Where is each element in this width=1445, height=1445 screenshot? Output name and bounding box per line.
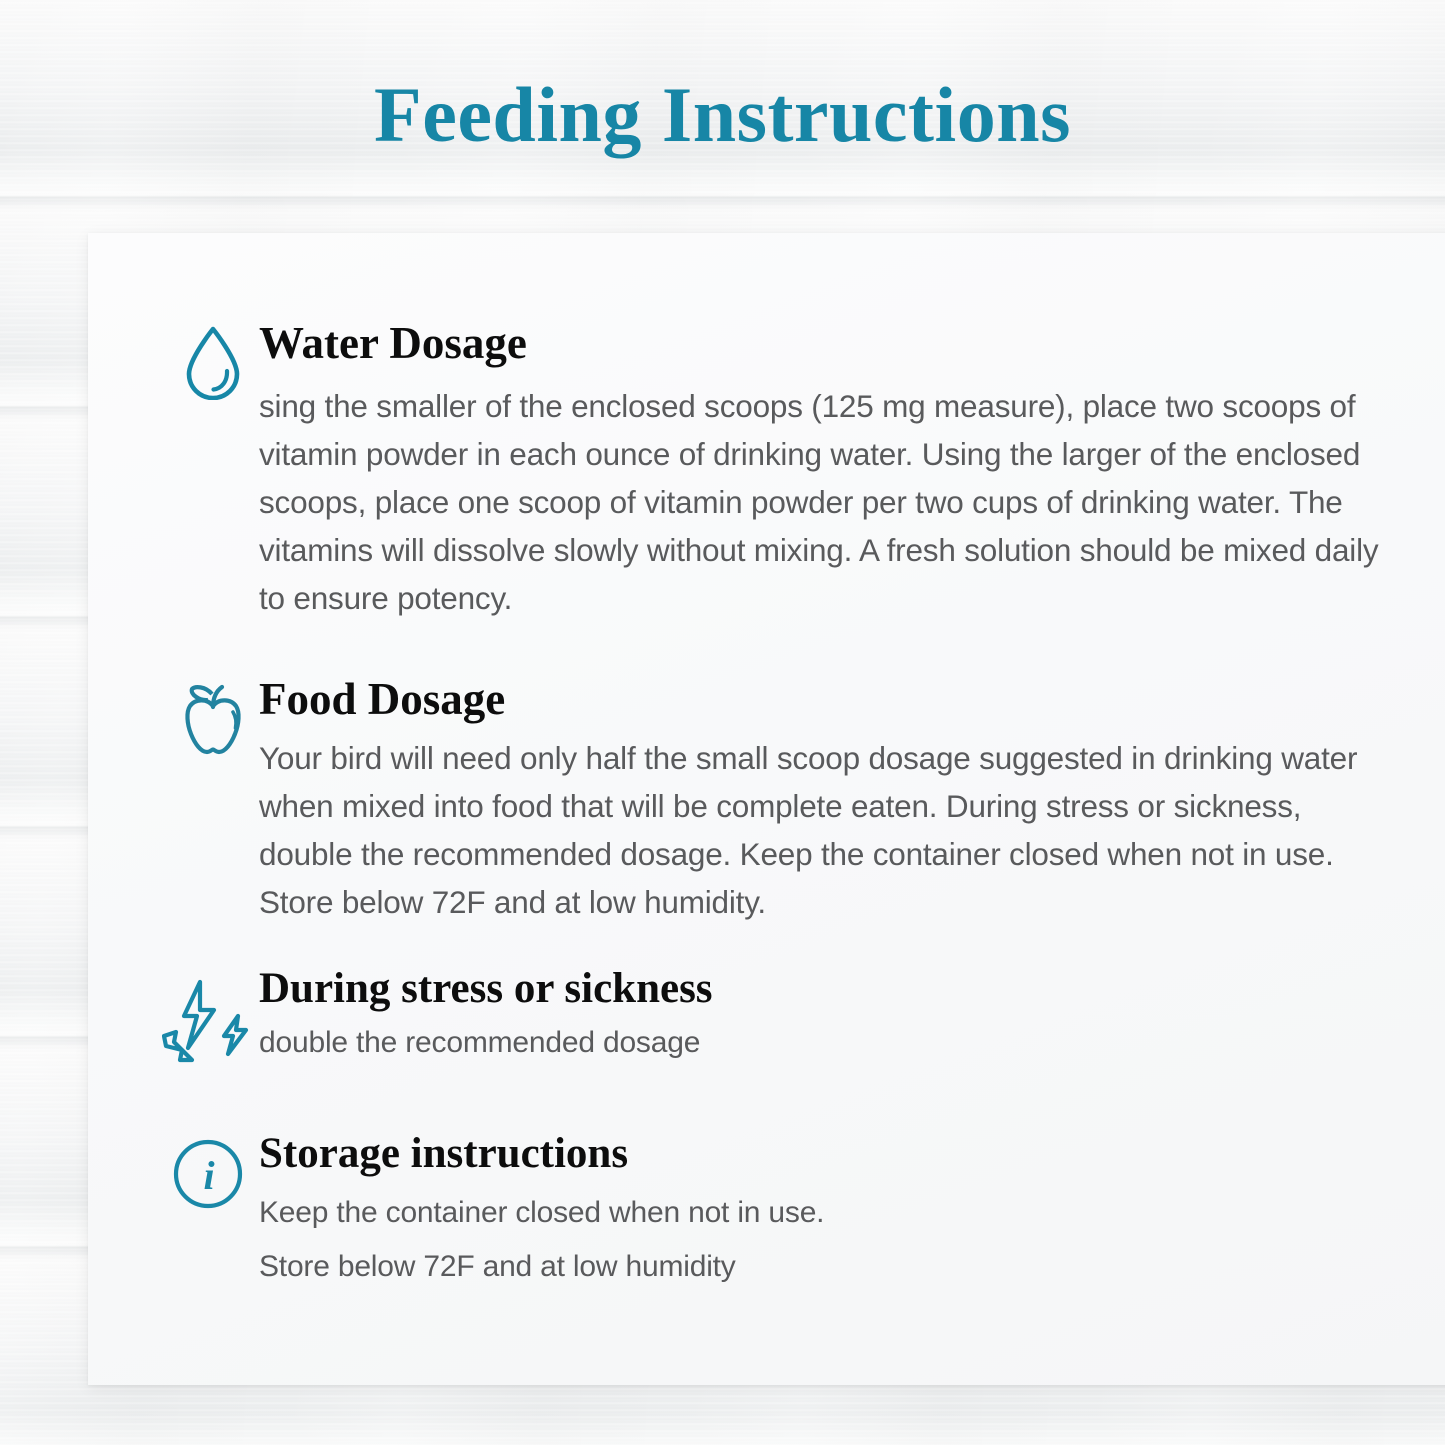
page-title: Feeding Instructions bbox=[0, 72, 1445, 158]
section-during-stress: During stress or sickness double the rec… bbox=[157, 966, 1057, 1066]
section-text: sing the smaller of the enclosed scoops … bbox=[259, 383, 1412, 622]
lightning-bolts-icon bbox=[157, 966, 259, 1066]
section-text-line-1: Keep the container closed when not in us… bbox=[259, 1186, 1057, 1239]
svg-text:i: i bbox=[203, 1153, 214, 1198]
section-heading: Food Dosage bbox=[259, 676, 1377, 723]
section-heading: Water Dosage bbox=[259, 320, 1412, 367]
section-heading: During stress or sickness bbox=[259, 966, 1057, 1011]
water-drop-icon bbox=[167, 320, 259, 400]
section-text: Your bird will need only half the small … bbox=[259, 735, 1377, 927]
section-food-dosage: Food Dosage Your bird will need only hal… bbox=[167, 676, 1377, 927]
apple-icon bbox=[167, 676, 259, 760]
section-body: Food Dosage Your bird will need only hal… bbox=[259, 676, 1377, 927]
section-text-line-2: Store below 72F and at low humidity bbox=[259, 1240, 1057, 1293]
section-heading: Storage instructions bbox=[259, 1131, 1057, 1176]
section-water-dosage: Water Dosage sing the smaller of the enc… bbox=[167, 320, 1412, 623]
info-circle-icon: i bbox=[157, 1131, 259, 1211]
section-storage-instructions: i Storage instructions Keep the containe… bbox=[157, 1131, 1057, 1293]
section-text: double the recommended dosage bbox=[259, 1021, 1057, 1065]
section-body: During stress or sickness double the rec… bbox=[259, 966, 1057, 1065]
section-body: Storage instructions Keep the container … bbox=[259, 1131, 1057, 1293]
section-body: Water Dosage sing the smaller of the enc… bbox=[259, 320, 1412, 623]
